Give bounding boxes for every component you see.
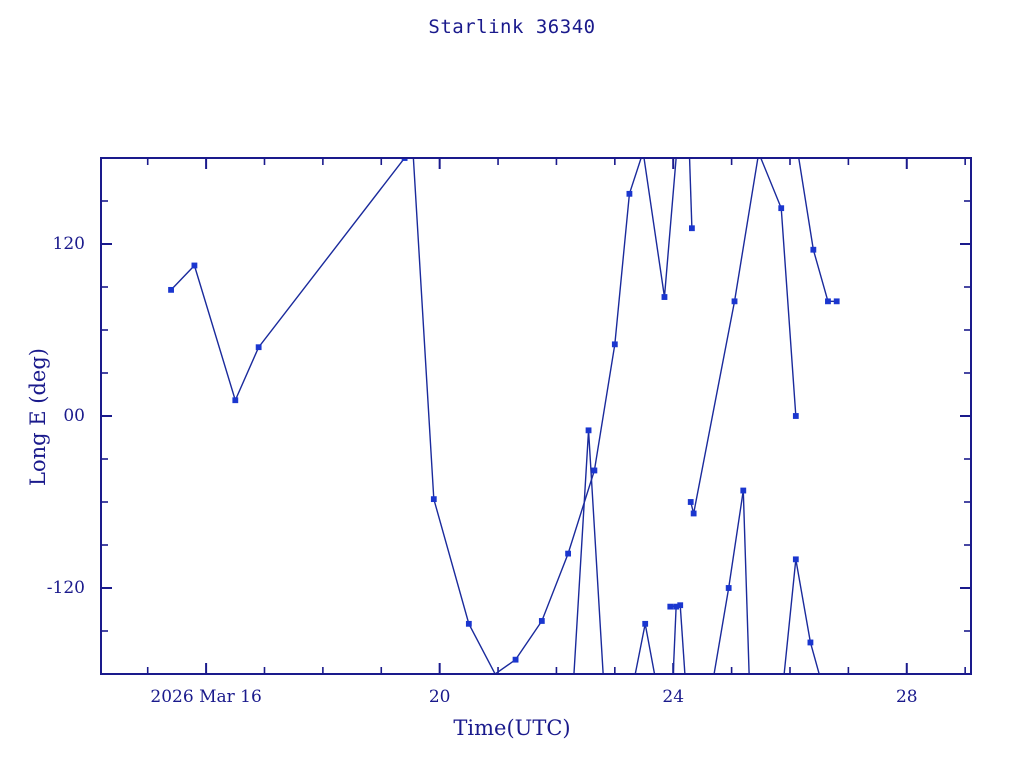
longitude-drift-segment-3: [495, 194, 629, 674]
x-tick-label: 2026 Mar 16: [150, 687, 261, 707]
data-point-marker: [793, 413, 798, 418]
longitude-drift-segment-1: [171, 158, 405, 400]
longitude-drift-segment-10: [690, 158, 692, 228]
data-point-marker: [668, 604, 673, 609]
plot-frame: [101, 158, 971, 674]
longitude-drift-segment-19: [673, 607, 676, 674]
data-point-marker: [688, 499, 693, 504]
data-point-marker: [612, 342, 617, 347]
y-tick-label: 120: [10, 234, 85, 254]
data-point-marker: [233, 398, 238, 403]
data-point-marker: [539, 618, 544, 623]
data-point-marker: [513, 657, 518, 662]
longitude-drift-segment-9: [680, 605, 685, 674]
data-point-marker: [566, 551, 571, 556]
longitude-drift-segment-17: [784, 559, 810, 674]
longitude-drift-segment-4: [629, 158, 641, 194]
data-point-marker: [811, 247, 816, 252]
data-point-marker: [793, 557, 798, 562]
data-markers: [168, 155, 839, 662]
x-tick-label: 20: [429, 687, 451, 707]
data-point-marker: [689, 226, 694, 231]
data-point-marker: [732, 299, 737, 304]
data-point-marker: [431, 497, 436, 502]
data-point-marker: [256, 345, 261, 350]
longitude-drift-segment-14: [799, 158, 828, 301]
x-tick-label: 24: [662, 687, 684, 707]
data-point-marker: [726, 585, 731, 590]
data-point-marker: [741, 488, 746, 493]
data-point-marker: [779, 206, 784, 211]
longitude-drift-segment-13: [761, 158, 796, 416]
longitude-drift-segment-16: [743, 491, 749, 674]
data-point-marker: [168, 287, 173, 292]
data-point-marker: [662, 294, 667, 299]
data-point-marker: [592, 468, 597, 473]
data-point-marker: [691, 511, 696, 516]
longitude-drift-segment-5: [644, 158, 676, 297]
x-axis-label: Time(UTC): [0, 716, 1024, 740]
longitude-drift-segment-12: [694, 158, 758, 513]
data-point-marker: [586, 428, 591, 433]
longitude-drift-segment-18: [810, 642, 819, 674]
longitude-drift-segment-6: [574, 430, 603, 674]
x-tick-label: 28: [896, 687, 918, 707]
data-series: [171, 158, 837, 674]
data-point-marker: [192, 263, 197, 268]
y-axis-label: Long E (deg): [26, 317, 50, 517]
plot-canvas: [0, 0, 1024, 768]
data-point-marker: [825, 299, 830, 304]
data-point-marker: [466, 621, 471, 626]
longitude-drift-segment-2: [413, 158, 495, 674]
chart-container: Starlink 36340 12000-120 2026 Mar 162024…: [0, 0, 1024, 768]
y-tick-label: -120: [10, 578, 85, 598]
longitude-drift-segment-15: [714, 491, 743, 674]
data-point-marker: [627, 191, 632, 196]
data-point-marker: [643, 621, 648, 626]
longitude-drift-segment-7: [635, 624, 654, 674]
axis-ticks: [101, 158, 971, 674]
data-point-marker: [834, 299, 839, 304]
data-point-marker: [674, 604, 679, 609]
data-point-marker: [808, 640, 813, 645]
